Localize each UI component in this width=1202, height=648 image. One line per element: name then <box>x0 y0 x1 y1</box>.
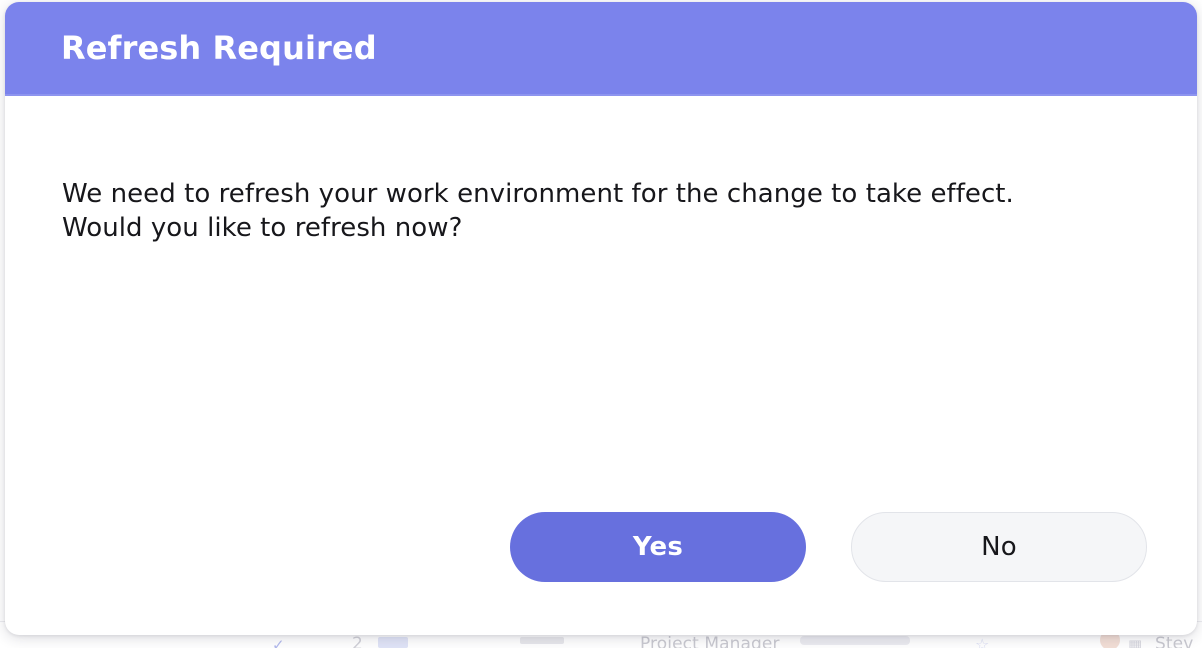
background-placeholder-pill <box>800 636 910 645</box>
star-icon: ☆ <box>975 635 989 648</box>
yes-button[interactable]: Yes <box>510 512 806 582</box>
dialog-message: We need to refresh your work environment… <box>62 177 1072 246</box>
dialog-actions: Yes No <box>5 512 1197 582</box>
dialog-body: We need to refresh your work environment… <box>5 96 1197 635</box>
background-user-name: Stev <box>1155 634 1193 648</box>
refresh-required-dialog: Refresh Required We need to refresh your… <box>5 2 1197 635</box>
no-button[interactable]: No <box>851 512 1147 582</box>
check-icon: ✓ <box>272 636 285 648</box>
background-row-number: 2 <box>352 634 363 648</box>
background-chip <box>378 637 408 648</box>
background-placeholder-bar <box>520 637 564 644</box>
grid-icon: ▦ <box>1128 636 1142 648</box>
dialog-title: Refresh Required <box>61 32 377 64</box>
dialog-header: Refresh Required <box>5 2 1197 96</box>
background-role-label: Project Manager <box>640 634 780 648</box>
